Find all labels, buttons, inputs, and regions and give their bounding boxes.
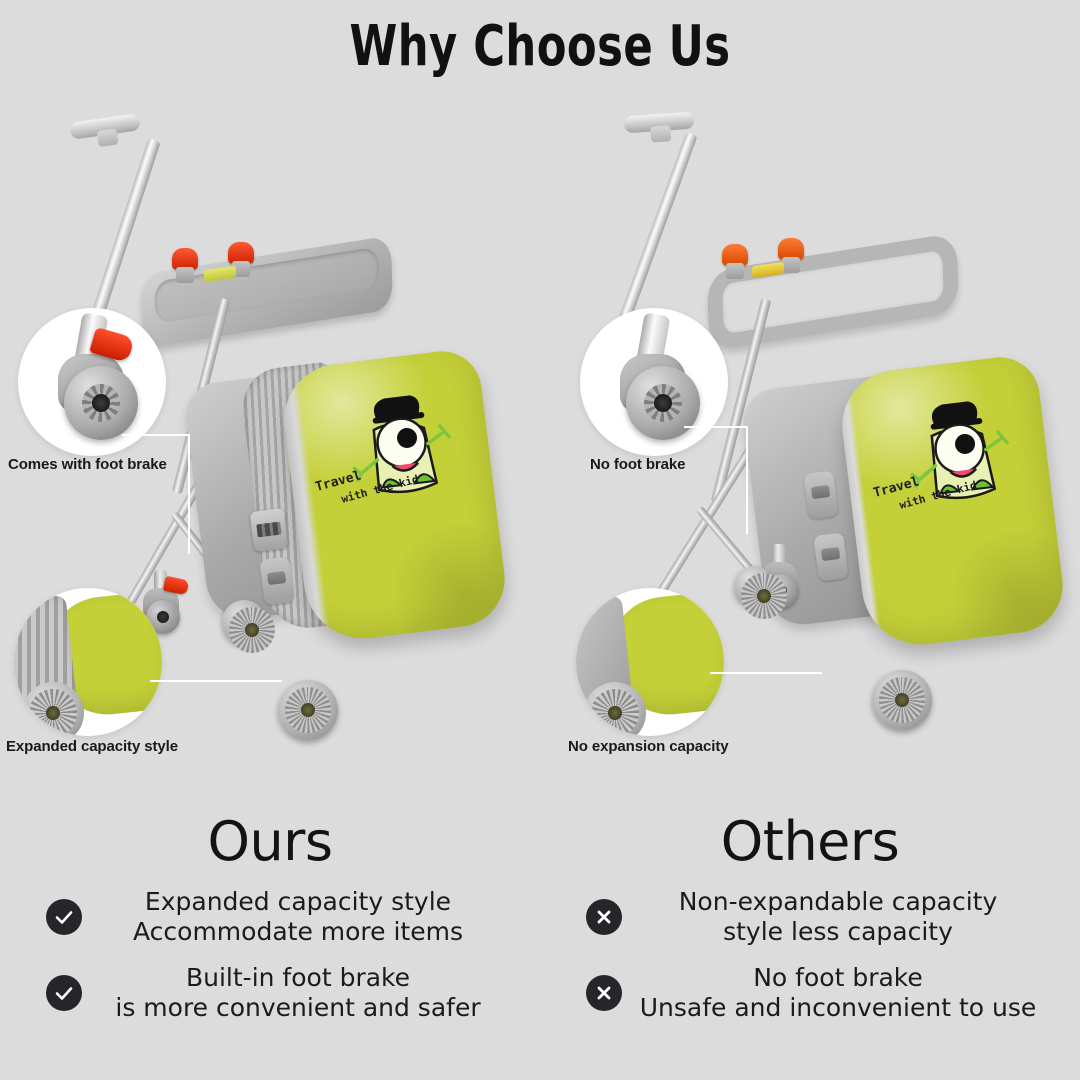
check-icon	[46, 975, 82, 1011]
comparison-text-ours-2-line1: Built-in foot brake	[92, 963, 504, 993]
tray-release-button-left-ours[interactable]	[172, 248, 198, 270]
comparison-text-others-1: Non-expandable capacity style less capac…	[632, 887, 1080, 947]
comparison-column-others: Others Non-expandable capacity style les…	[540, 800, 1080, 1080]
side-strap-upper-others	[803, 470, 838, 519]
cross-icon	[586, 899, 622, 935]
callout-link-ours-expand-h	[150, 680, 282, 682]
comparison-text-ours-2: Built-in foot brake is more convenient a…	[92, 963, 540, 1023]
comparison-text-ours-1-line1: Expanded capacity style	[92, 887, 504, 917]
frame-release-button-right-others[interactable]	[778, 238, 804, 260]
callout-link-others-brake-h	[684, 426, 748, 428]
comparison-text-others-2-line1: No foot brake	[632, 963, 1044, 993]
callout-link-others-brake-v	[746, 426, 748, 534]
comparison-row-others-1: Non-expandable capacity style less capac…	[540, 887, 1080, 947]
product-comparison-stage: Travel with the kid	[0, 100, 1080, 790]
callout-caption-others-expand: No expansion capacity	[568, 738, 728, 755]
callout-caption-ours-expand: Expanded capacity style	[6, 738, 178, 755]
handle-grip-others	[623, 112, 694, 134]
callout-bubble-others-brake	[580, 308, 728, 456]
handle-grip-ours	[69, 113, 141, 140]
callout-bubble-others-expand	[576, 588, 724, 736]
frame-release-button-left-others[interactable]	[722, 244, 748, 266]
comparison-column-ours: Ours Expanded capacity style Accommodate…	[0, 800, 540, 1080]
suitcase-others: Travel with the kid	[754, 364, 1054, 649]
page-title: Why Choose Us	[76, 14, 1005, 79]
comparison-row-others-2: No foot brake Unsafe and inconvenient to…	[540, 963, 1080, 1023]
cross-icon	[586, 975, 622, 1011]
callout-caption-others-brake: No foot brake	[590, 456, 685, 473]
suitcase-shell-others: Travel with the kid	[836, 353, 1068, 651]
magnified-caster-no-brake	[614, 314, 700, 454]
rear-wheel-others	[872, 670, 932, 730]
callout-link-ours-brake-v	[188, 434, 190, 554]
side-strap-ours	[259, 556, 294, 605]
tray-release-button-right-ours[interactable]	[228, 242, 254, 264]
callout-bubble-ours-expand	[14, 588, 162, 736]
magnified-expanded-corner	[14, 596, 162, 736]
tsa-lock-ours[interactable]	[250, 508, 289, 552]
rear-wheel-inner-ours	[222, 600, 266, 644]
suitcase-shell-ours: Travel with the kid	[278, 347, 510, 645]
callout-link-ours-brake-h	[122, 434, 190, 436]
comparison-text-others-1-line1: Non-expandable capacity	[632, 887, 1044, 917]
callout-link-others-expand-h	[710, 672, 822, 674]
comparison-text-ours-2-line2: is more convenient and safer	[92, 993, 504, 1023]
comparison-heading-ours: Ours	[0, 810, 540, 873]
comparison-text-others-1-line2: style less capacity	[632, 917, 1044, 947]
magnified-caster-with-brake	[52, 314, 138, 454]
comparison-text-others-2-line2: Unsafe and inconvenient to use	[632, 993, 1044, 1023]
comparison-text-ours-1: Expanded capacity style Accommodate more…	[92, 887, 540, 947]
magnified-plain-corner	[576, 596, 724, 736]
side-strap-lower-others	[813, 532, 848, 581]
comparison-row-ours-2: Built-in foot brake is more convenient a…	[0, 963, 540, 1023]
comparison-row-ours-1: Expanded capacity style Accommodate more…	[0, 887, 540, 947]
check-icon	[46, 899, 82, 935]
callout-caption-ours-brake: Comes with foot brake	[8, 456, 167, 473]
comparison-text-ours-1-line2: Accommodate more items	[92, 917, 504, 947]
comparison-heading-others: Others	[540, 810, 1080, 873]
rear-wheel-inner-others	[734, 566, 774, 606]
comparison-footer: Ours Expanded capacity style Accommodate…	[0, 800, 1080, 1080]
comparison-text-others-2: No foot brake Unsafe and inconvenient to…	[632, 963, 1080, 1023]
rear-wheel-ours	[278, 680, 338, 740]
